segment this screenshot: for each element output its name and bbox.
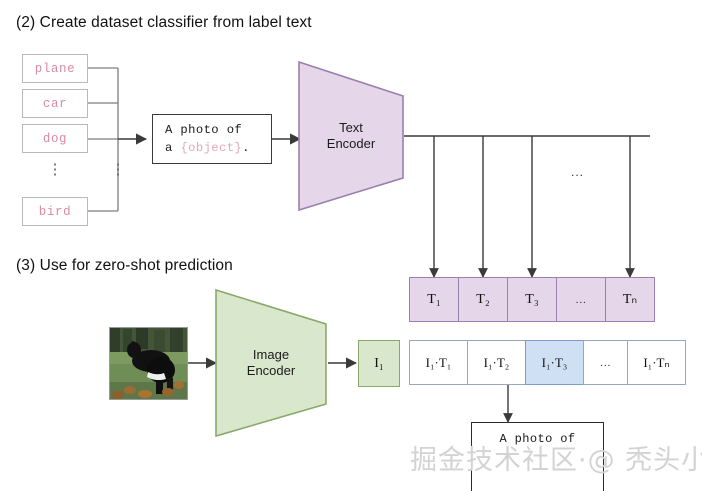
- step-3-title: (3) Use for zero-shot prediction: [16, 257, 233, 275]
- text-embedding-bus-ellipsis: ...: [571, 165, 584, 179]
- prompt-period: .: [242, 141, 250, 155]
- image-encoder-line-2: Encoder: [247, 363, 295, 379]
- watermark: 掘金技术社区·@ 秃头小苏: [410, 438, 702, 477]
- similarity-cell-1: I₁·T₁: [409, 340, 468, 385]
- image-encoder: Image Encoder: [214, 288, 328, 438]
- label-list-ellipsis: ⋮: [22, 163, 88, 178]
- text-embedding-cell-2: T₂: [458, 277, 508, 322]
- connector-ellipsis: ⋮: [90, 163, 146, 178]
- label-box-car: car: [22, 89, 88, 118]
- prompt-line-1: A photo of: [165, 121, 271, 139]
- prompt-line-2: a {object}.: [165, 139, 271, 157]
- image-embedding-box: I₁: [358, 340, 400, 387]
- text-embedding-cell-n-label: Tₙ: [623, 291, 637, 308]
- label-box-bird: bird: [22, 197, 88, 226]
- similarity-cell-ellipsis: …: [583, 340, 628, 385]
- prompt-object-slot: {object}: [180, 141, 242, 155]
- image-encoder-label: Image Encoder: [247, 347, 295, 379]
- text-encoder: Text Encoder: [297, 60, 405, 212]
- text-embedding-cell-3-label: T₃: [525, 292, 538, 308]
- similarity-ellipsis-label: …: [600, 357, 612, 369]
- similarity-cell-1-label: I₁·T₁: [426, 355, 452, 371]
- similarity-cell-3-best-match: I₁·T₃: [525, 340, 584, 385]
- label-box-dog: dog: [22, 124, 88, 153]
- prompt-template-box: A photo of a {object}.: [152, 114, 272, 164]
- text-embedding-drop-arrows: [434, 136, 630, 277]
- similarity-cell-n-label: I₁·Tₙ: [643, 355, 669, 371]
- similarity-cell-2: I₁·T₂: [467, 340, 526, 385]
- text-embedding-cell-1-label: T₁: [427, 292, 440, 308]
- text-encoder-label: Text Encoder: [327, 120, 375, 152]
- text-embedding-ellipsis-label: …: [575, 294, 587, 306]
- similarity-cell-3-label: I₁·T₃: [542, 355, 568, 371]
- text-embedding-cell-ellipsis: …: [556, 277, 606, 322]
- prompt-article: a: [165, 141, 180, 155]
- image-embedding-label: I₁: [374, 356, 384, 372]
- text-encoder-line-1: Text: [327, 120, 375, 136]
- label-box-plane: plane: [22, 54, 88, 83]
- thumbnail-artwork: [110, 328, 187, 399]
- text-embedding-cell-n: Tₙ: [605, 277, 655, 322]
- text-encoder-line-2: Encoder: [327, 136, 375, 152]
- step-2-title: (2) Create dataset classifier from label…: [16, 14, 312, 32]
- text-embedding-cell-3: T₃: [507, 277, 557, 322]
- similarity-cell-n: I₁·Tₙ: [627, 340, 686, 385]
- label-collector-wires: [88, 68, 118, 211]
- figure-canvas: (2) Create dataset classifier from label…: [0, 0, 702, 491]
- text-embedding-cell-1: T₁: [409, 277, 459, 322]
- text-embedding-cell-2-label: T₂: [476, 292, 489, 308]
- similarity-cell-2-label: I₁·T₂: [484, 355, 510, 371]
- image-encoder-line-1: Image: [247, 347, 295, 363]
- input-image-thumbnail: [109, 327, 188, 400]
